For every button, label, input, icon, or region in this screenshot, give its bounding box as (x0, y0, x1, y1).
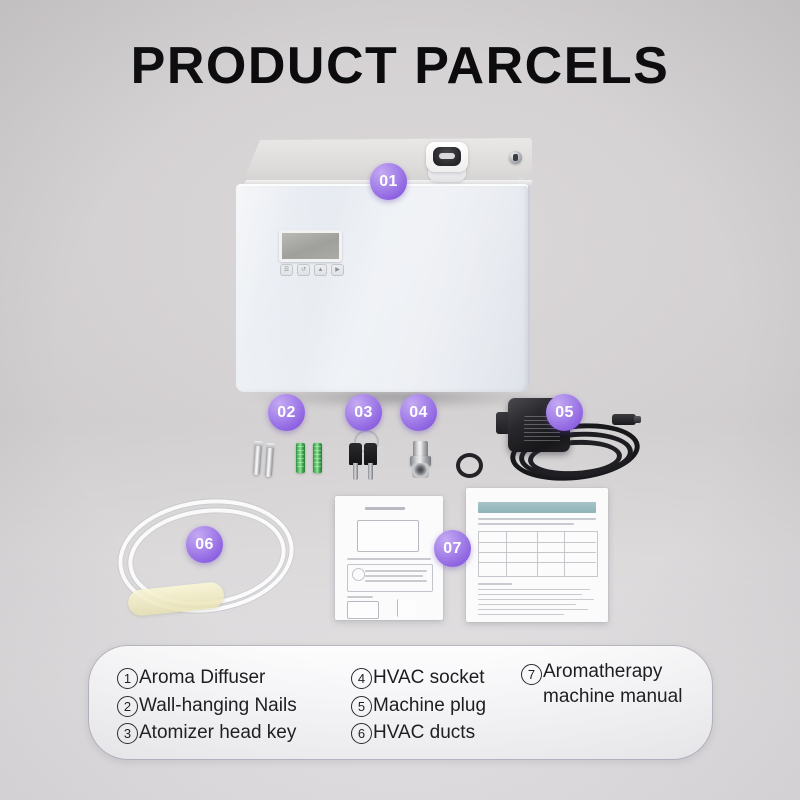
wall-anchor-2 (313, 443, 322, 473)
callout-badge-05[interactable]: 05 (546, 394, 583, 431)
lcd-screen (279, 230, 342, 262)
key-lock-icon (509, 151, 522, 164)
control-button-row: ☰ ↺ ▲ ▶ (280, 264, 344, 276)
manual-warning-icon (352, 568, 365, 581)
legend-panel: 1 Aroma Diffuser 2 Wall-hanging Nails 3 … (88, 645, 713, 760)
warranty-card (466, 488, 608, 622)
legend-column-3: 7 Aromatherapy machine manual (521, 660, 712, 709)
menu-button[interactable]: ☰ (280, 264, 293, 276)
legend-number-4: 4 (351, 668, 372, 689)
set-button[interactable]: ↺ (297, 264, 310, 276)
o-ring (456, 453, 483, 478)
legend-item-5: 5 Machine plug (351, 692, 486, 720)
legend-item-7: 7 Aromatherapy machine manual (521, 660, 712, 709)
manual-figure-machine (357, 520, 419, 552)
legend-label-2: Wall-hanging Nails (139, 692, 297, 720)
socket-opening (412, 463, 429, 478)
legend-label-3: Atomizer head key (139, 719, 296, 747)
legend-item-4: 4 HVAC socket (351, 664, 486, 692)
wall-anchor-1 (296, 443, 305, 473)
legend-number-7: 7 (521, 664, 542, 685)
instruction-manual (335, 496, 443, 620)
manual-figure-mount (347, 601, 379, 619)
legend-label-1: Aroma Diffuser (139, 664, 265, 692)
manual-line-5 (347, 596, 373, 598)
warranty-row-3 (478, 562, 596, 563)
warranty-terms-4 (478, 604, 576, 605)
legend-column-2: 4 HVAC socket 5 Machine plug 6 HVAC duct… (351, 664, 486, 747)
warranty-terms-heading (478, 583, 512, 585)
warranty-header-bar (478, 502, 596, 513)
manual-heading (365, 507, 405, 510)
warranty-terms-5 (478, 609, 588, 610)
warranty-terms-3 (478, 599, 594, 600)
legend-label-6: HVAC ducts (373, 719, 475, 747)
legend-column-1: 1 Aroma Diffuser 2 Wall-hanging Nails 3 … (117, 664, 297, 747)
manual-line-1 (347, 558, 431, 560)
manual-line-2 (365, 570, 427, 572)
warranty-note-2 (478, 523, 574, 525)
key-1 (349, 443, 362, 465)
warranty-table-col-1 (478, 531, 507, 577)
key-2 (364, 443, 377, 465)
legend-item-3: 3 Atomizer head key (117, 719, 297, 747)
warranty-terms-1 (478, 589, 590, 590)
up-button[interactable]: ▲ (314, 264, 327, 276)
warranty-row-2 (478, 552, 596, 553)
callout-badge-03[interactable]: 03 (345, 394, 382, 431)
legend-item-1: 1 Aroma Diffuser (117, 664, 297, 692)
manual-figure-detail (397, 599, 416, 617)
diffuser-front-sheen (236, 184, 528, 392)
callout-badge-01[interactable]: 01 (370, 163, 407, 200)
callout-badge-06[interactable]: 06 (186, 526, 223, 563)
page-title: PRODUCT PARCELS (0, 40, 800, 92)
callout-badge-07[interactable]: 07 (434, 530, 471, 567)
warranty-table-col-3 (537, 531, 565, 577)
nail-screw-1 (253, 441, 262, 475)
warranty-row-1 (478, 542, 596, 543)
legend-item-6: 6 HVAC ducts (351, 719, 486, 747)
play-button[interactable]: ▶ (331, 264, 344, 276)
product-parcels-image: PRODUCT PARCELS ☰ ↺ ▲ ▶ (0, 0, 800, 800)
manual-line-3 (365, 575, 423, 577)
mist-nozzle-slot (439, 153, 455, 159)
legend-number-1: 1 (117, 668, 138, 689)
legend-number-5: 5 (351, 696, 372, 717)
legend-number-6: 6 (351, 723, 372, 744)
legend-number-2: 2 (117, 696, 138, 717)
dc-barrel-plug (612, 414, 636, 425)
callout-badge-04[interactable]: 04 (400, 394, 437, 431)
legend-number-3: 3 (117, 723, 138, 744)
legend-label-4: HVAC socket (373, 664, 485, 692)
warranty-terms-6 (478, 614, 564, 615)
legend-label-5: Machine plug (373, 692, 486, 720)
callout-badge-02[interactable]: 02 (268, 394, 305, 431)
nail-screw-2 (265, 443, 274, 477)
warranty-note-1 (478, 518, 596, 520)
legend-item-2: 2 Wall-hanging Nails (117, 692, 297, 720)
warranty-terms-2 (478, 594, 582, 595)
key-2-blade (368, 463, 373, 480)
key-1-blade (353, 463, 358, 480)
manual-line-4 (365, 580, 427, 582)
legend-label-7: Aromatherapy machine manual (543, 660, 712, 709)
